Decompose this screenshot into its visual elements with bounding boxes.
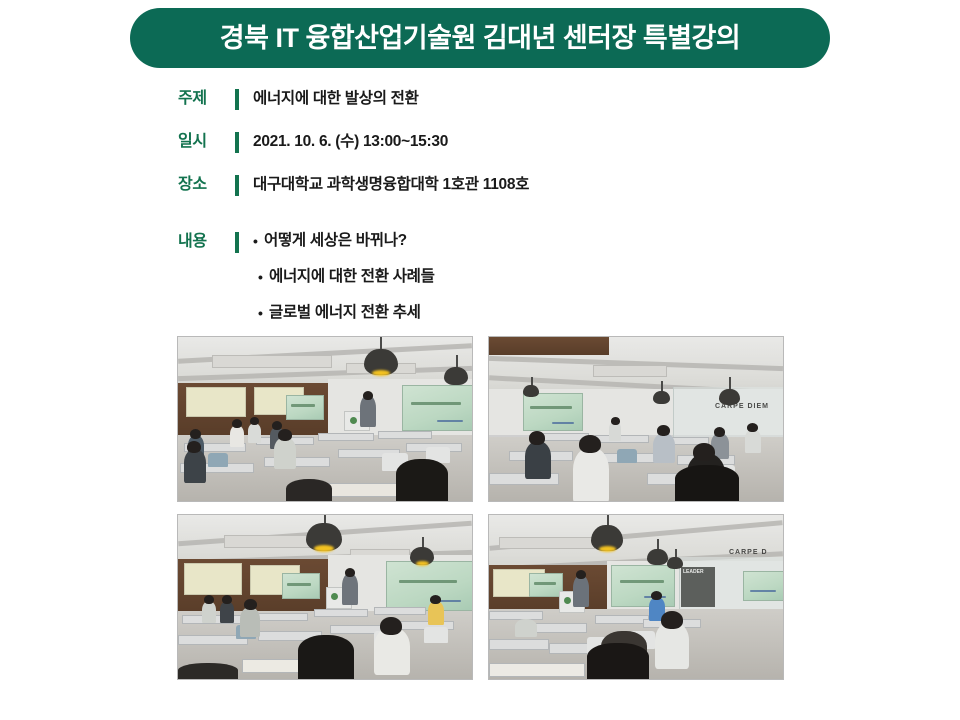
chair bbox=[617, 449, 637, 463]
ceiling-duct bbox=[499, 537, 595, 549]
foreground-student bbox=[587, 643, 649, 679]
info-label-content: 내용 bbox=[178, 231, 226, 253]
desk bbox=[314, 609, 368, 617]
projector-screen bbox=[523, 393, 583, 431]
lecturer bbox=[342, 573, 358, 605]
lecturer bbox=[573, 575, 589, 607]
screen-text-line bbox=[291, 404, 315, 407]
projector-screen bbox=[611, 565, 675, 607]
desk bbox=[489, 639, 549, 650]
label-separator-bar bbox=[235, 175, 239, 196]
lamp-glow bbox=[599, 546, 616, 552]
small-monitor bbox=[282, 573, 320, 599]
info-label-topic: 주제 bbox=[178, 88, 226, 110]
desk bbox=[374, 607, 426, 615]
pendant-lamp bbox=[667, 557, 683, 569]
student bbox=[202, 601, 216, 623]
photo-scene: LEADER CARPE D bbox=[489, 515, 783, 679]
lectern-logo bbox=[331, 593, 338, 600]
student-head bbox=[272, 421, 282, 430]
student-head bbox=[187, 441, 201, 453]
lecturer-head bbox=[345, 568, 355, 577]
foreground-student bbox=[298, 635, 354, 679]
info-value-topic: 에너지에 대한 발상의 전환 bbox=[253, 88, 818, 110]
desk bbox=[318, 433, 374, 441]
lecture-room-photo-2: CARPE DIEM bbox=[488, 336, 784, 502]
small-monitor bbox=[286, 395, 324, 420]
student-head bbox=[651, 591, 662, 600]
student-head bbox=[244, 599, 257, 610]
wall-sign: CARPE D bbox=[729, 549, 768, 556]
info-label-location: 장소 bbox=[178, 174, 226, 196]
student bbox=[428, 601, 444, 625]
student bbox=[515, 619, 537, 637]
chair bbox=[424, 627, 448, 643]
student bbox=[184, 449, 206, 483]
ceiling-duct bbox=[593, 365, 667, 377]
student-head bbox=[529, 431, 545, 445]
screen-text-line bbox=[530, 406, 572, 409]
label-separator-bar bbox=[235, 89, 239, 110]
pendant-lamp bbox=[719, 389, 740, 405]
student bbox=[274, 437, 296, 469]
info-row-content: 내용 어떻게 세상은 바뀌나? 에너지에 대한 전환 사례들 글로벌 에너지 전… bbox=[178, 231, 818, 323]
info-row-topic: 주제 에너지에 대한 발상의 전환 bbox=[178, 88, 818, 131]
content-bullet-item: 글로벌 에너지 전환 추세 bbox=[253, 303, 818, 323]
screen-text-line bbox=[411, 402, 461, 405]
screen-text-line bbox=[287, 583, 311, 586]
screen-text-line bbox=[437, 420, 463, 422]
info-block: 주제 에너지에 대한 발상의 전환 일시 2021. 10. 6. (수) 13… bbox=[178, 88, 818, 323]
student-head bbox=[657, 425, 670, 436]
student-head bbox=[747, 423, 758, 432]
desk bbox=[378, 431, 432, 439]
student-head bbox=[579, 435, 601, 453]
label-separator-bar bbox=[235, 232, 239, 253]
student-head bbox=[222, 595, 232, 604]
desk bbox=[489, 663, 585, 677]
student-head bbox=[250, 417, 259, 425]
projector-screen bbox=[402, 385, 472, 431]
student bbox=[525, 441, 551, 479]
info-label-datetime: 일시 bbox=[178, 131, 226, 153]
secondary-screen bbox=[743, 571, 783, 601]
label-separator-bar bbox=[235, 132, 239, 153]
lectern-logo bbox=[350, 417, 357, 424]
desk bbox=[595, 615, 649, 624]
student-head bbox=[190, 429, 201, 439]
student-head bbox=[693, 443, 715, 461]
page-title: 경북 IT 융합산업기술원 김대년 센터장 특별강의 bbox=[220, 25, 740, 52]
student bbox=[220, 601, 234, 623]
desk bbox=[595, 435, 649, 443]
pendant-lamp bbox=[444, 367, 468, 385]
student-head bbox=[204, 595, 214, 604]
wall-poster: LEADER bbox=[681, 567, 715, 607]
screen-text-line bbox=[750, 590, 776, 592]
lecture-room-photo-3 bbox=[177, 514, 473, 680]
foreground-student bbox=[573, 447, 609, 501]
info-value-datetime: 2021. 10. 6. (수) 13:00~15:30 bbox=[253, 131, 818, 153]
lamp-glow bbox=[416, 561, 429, 566]
lecturer-head bbox=[576, 570, 586, 579]
small-monitor bbox=[529, 573, 563, 597]
wood-ceiling-edge bbox=[489, 337, 609, 355]
student-head bbox=[232, 419, 242, 428]
student-head bbox=[380, 617, 402, 635]
info-row-location: 장소 대구대학교 과학생명융합대학 1호관 1108호 bbox=[178, 174, 818, 217]
student bbox=[248, 423, 261, 443]
student-head bbox=[661, 611, 683, 629]
photo-scene: CARPE DIEM bbox=[489, 337, 783, 501]
pendant-lamp bbox=[523, 385, 539, 397]
screen-text-line bbox=[534, 582, 556, 585]
lecture-room-photo-4: LEADER CARPE D bbox=[488, 514, 784, 680]
student-head bbox=[714, 427, 725, 437]
photo-scene bbox=[178, 337, 472, 501]
student-head bbox=[430, 595, 441, 604]
photo-scene bbox=[178, 515, 472, 679]
content-bullet-list: 어떻게 세상은 바뀌나? 에너지에 대한 전환 사례들 글로벌 에너지 전환 추… bbox=[253, 231, 818, 323]
window-blind bbox=[184, 563, 242, 595]
student-head bbox=[278, 429, 292, 441]
pendant-lamp bbox=[653, 391, 670, 404]
student bbox=[653, 433, 675, 463]
desk bbox=[489, 611, 543, 620]
title-banner: 경북 IT 융합산업기술원 김대년 센터장 특별강의 bbox=[130, 8, 830, 68]
ceiling-duct bbox=[212, 355, 332, 368]
lectern-logo bbox=[564, 597, 571, 604]
window-blind bbox=[186, 387, 246, 417]
foreground-student bbox=[675, 465, 739, 501]
screen-text-line bbox=[552, 422, 574, 424]
student bbox=[230, 425, 244, 447]
info-row-datetime: 일시 2021. 10. 6. (수) 13:00~15:30 bbox=[178, 131, 818, 174]
chair bbox=[208, 453, 228, 467]
student bbox=[745, 429, 761, 453]
content-bullet-item: 어떻게 세상은 바뀌나? bbox=[253, 231, 818, 251]
lamp-glow bbox=[314, 545, 334, 552]
desk bbox=[252, 613, 308, 621]
lecture-room-photo-1 bbox=[177, 336, 473, 502]
foreground-student bbox=[286, 479, 332, 501]
lecturer-head bbox=[363, 391, 373, 400]
screen-text-line bbox=[620, 580, 664, 583]
student-head bbox=[611, 417, 620, 425]
foreground-student bbox=[178, 663, 238, 679]
info-value-location: 대구대학교 과학생명융합대학 1호관 1108호 bbox=[253, 174, 818, 196]
content-bullet-item: 에너지에 대한 전환 사례들 bbox=[253, 267, 818, 287]
foreground-student bbox=[396, 459, 448, 501]
pendant-lamp bbox=[647, 549, 668, 565]
lamp-glow bbox=[372, 370, 390, 376]
photo-gallery: CARPE DIEM bbox=[177, 336, 784, 680]
student bbox=[240, 607, 260, 637]
screen-text-line bbox=[399, 580, 457, 583]
